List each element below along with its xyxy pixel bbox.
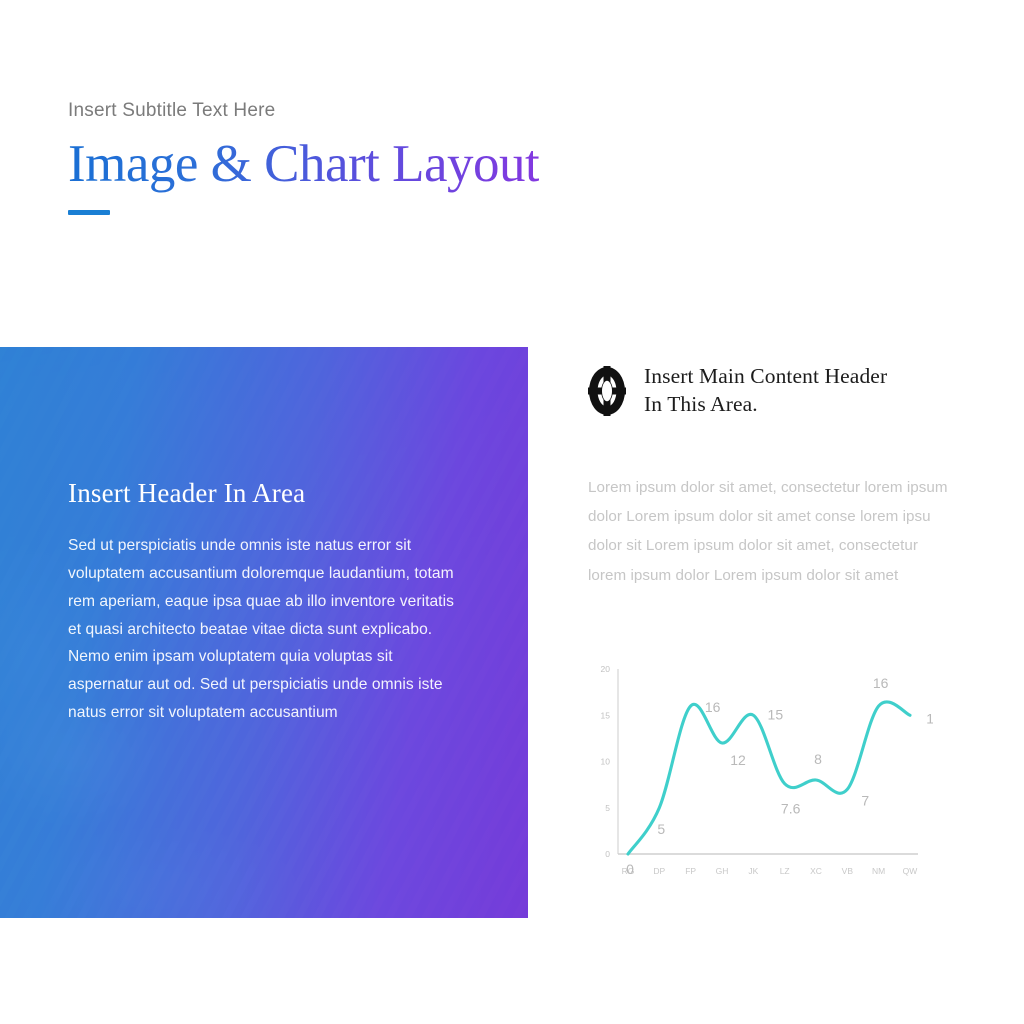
x-axis-tick-label: JK [748,866,758,876]
x-axis-tick-label: QW [903,866,918,876]
y-axis-tick-label: 10 [601,757,611,767]
x-axis-tick-label: LZ [780,866,790,876]
page-title: Image & Chart Layout [68,135,539,194]
y-axis-tick-label: 5 [605,803,610,813]
line-chart: 05101520 RGDPFPGHJKLZXCVBNMQW 051612157.… [588,655,933,895]
y-axis-tick-label: 20 [601,664,611,674]
chart-point-label: 16 [873,675,889,691]
content-header-line-1: Insert Main Content Header [644,362,887,390]
chart-point-label: 0 [626,861,634,877]
x-axis-tick-label: NM [872,866,885,876]
x-axis-tick-label: FP [685,866,696,876]
x-axis-tick-label: VB [842,866,854,876]
x-axis: RGDPFPGHJKLZXCVBNMQW [622,866,918,876]
x-axis-tick-label: XC [810,866,822,876]
panel-heading: Insert Header In Area [68,477,460,509]
chart-point-label: 15 [926,710,933,726]
image-panel: Insert Header In Area Sed ut perspiciati… [0,347,528,918]
y-axis-tick-label: 15 [601,710,611,720]
panel-paragraph: Sed ut perspiciatis unde omnis iste natu… [68,532,460,726]
y-axis-tick-label: 0 [605,849,610,859]
x-axis-tick-label: DP [653,866,665,876]
y-axis: 05101520 [601,664,611,859]
content-paragraph: Lorem ipsum dolor sit amet, consectetur … [588,473,948,590]
chart-svg: 05101520 RGDPFPGHJKLZXCVBNMQW 051612157.… [588,655,933,895]
x-axis-tick-label: GH [716,866,729,876]
chart-point-label: 16 [705,699,721,715]
lifebuoy-icon [588,366,626,416]
slide-subtitle: Insert Subtitle Text Here [68,100,768,123]
chart-point-label: 8 [814,751,822,767]
chart-point-label: 5 [657,821,665,837]
content-header-row: Insert Main Content Header In This Area. [588,362,950,419]
panel-content: Insert Header In Area Sed ut perspiciati… [68,477,460,727]
chart-point-label: 15 [768,706,784,722]
content-header-line-2: In This Area. [644,390,887,418]
content-header: Insert Main Content Header In This Area. [644,362,887,419]
chart-point-label: 12 [730,752,746,768]
chart-series-line [628,702,910,854]
content-column: Insert Main Content Header In This Area.… [588,362,950,590]
chart-point-label: 7.6 [781,801,801,817]
chart-point-label: 7 [861,792,869,808]
title-underline-accent [68,210,110,215]
slide-header: Insert Subtitle Text Here Image & Chart … [68,100,768,215]
